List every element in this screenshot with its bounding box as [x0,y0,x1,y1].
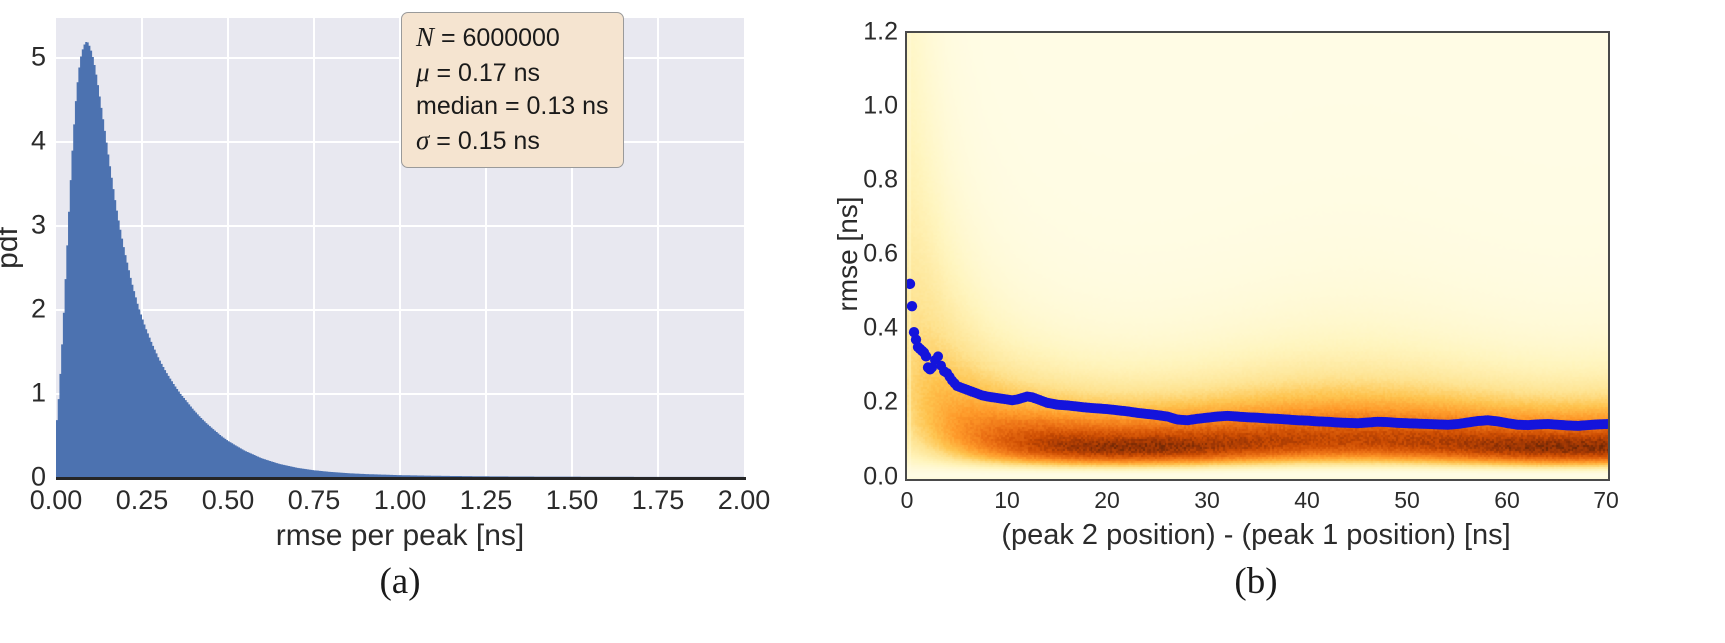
stat-sigma-symbol: σ [416,125,429,155]
panel-a-xtick-2: 0.50 [202,485,255,516]
stat-mu-value: = 0.17 ns [430,59,541,87]
panel-b-ytick-1: 0.2 [863,388,898,417]
panel-b-ytick-6: 1.2 [863,18,898,47]
panel-a-xtick-5: 1.25 [460,485,513,516]
panel-b-xtick-4: 40 [1294,487,1320,514]
panel-b-xtick-2: 20 [1094,487,1120,514]
panel-b-xtick-1: 10 [994,487,1020,514]
panel-a-plot-area [56,18,744,477]
panel-b-y-axis-label: rmse [ns] [832,196,864,311]
statistics-box: N = 6000000 μ = 0.17 ns median = 0.13 ns… [401,12,624,168]
panel-a-x-axis-line [56,477,746,480]
panel-b-xtick-5: 50 [1394,487,1420,514]
panel-b: 0.0 0.2 0.4 0.6 0.8 1.0 1.2 0 10 20 30 4… [820,0,1725,643]
panel-b-ytick-4: 0.8 [863,166,898,195]
panel-a-ytick-1: 1 [31,378,46,409]
stat-n-value: = 6000000 [434,24,560,52]
panel-a-ytick-2: 2 [31,294,46,325]
stat-n-symbol: N [416,22,434,52]
panel-a-caption: (a) [379,560,420,603]
stat-sigma-value: = 0.15 ns [429,127,540,155]
panel-b-x-axis-label: (peak 2 position) - (peak 1 position) [n… [1001,519,1510,552]
stat-median: median = 0.13 ns [416,90,609,123]
panel-b-plot-area [905,31,1610,481]
stat-mu: μ = 0.17 ns [416,55,609,90]
panel-a-ytick-5: 5 [31,42,46,73]
panel-a-xtick-6: 1.50 [546,485,599,516]
panel-a-x-axis-label: rmse per peak [ns] [276,519,524,553]
rmse-histogram [56,18,744,477]
stat-mu-symbol: μ [416,57,430,87]
figure-root: 0 1 2 3 4 5 0.00 0.25 0.50 0.75 1.00 1.2… [0,0,1725,643]
stat-sigma: σ = 0.15 ns [416,123,609,158]
panel-b-ytick-0: 0.0 [863,463,898,492]
panel-b-xtick-3: 30 [1194,487,1220,514]
panel-b-ytick-3: 0.6 [863,240,898,269]
stat-n: N = 6000000 [416,20,609,55]
panel-b-ytick-5: 1.0 [863,92,898,121]
panel-a-y-axis-label: pdf [0,227,25,269]
panel-a-xtick-0: 0.00 [30,485,83,516]
panel-a-ytick-3: 3 [31,210,46,241]
panel-a-xtick-7: 1.75 [632,485,685,516]
panel-a-xtick-8: 2.00 [718,485,771,516]
panel-a-xtick-3: 0.75 [288,485,341,516]
panel-b-ytick-2: 0.4 [863,314,898,343]
panel-b-xtick-6: 60 [1494,487,1520,514]
panel-a-ytick-4: 4 [31,126,46,157]
panel-b-xtick-7: 70 [1593,487,1619,514]
panel-a-xtick-4: 1.00 [374,485,427,516]
median-rmse-scatter [907,33,1608,479]
panel-b-caption: (b) [1234,560,1277,603]
panel-a-xtick-1: 0.25 [116,485,169,516]
panel-b-xtick-0: 0 [901,487,914,514]
panel-a: 0 1 2 3 4 5 0.00 0.25 0.50 0.75 1.00 1.2… [0,0,800,643]
